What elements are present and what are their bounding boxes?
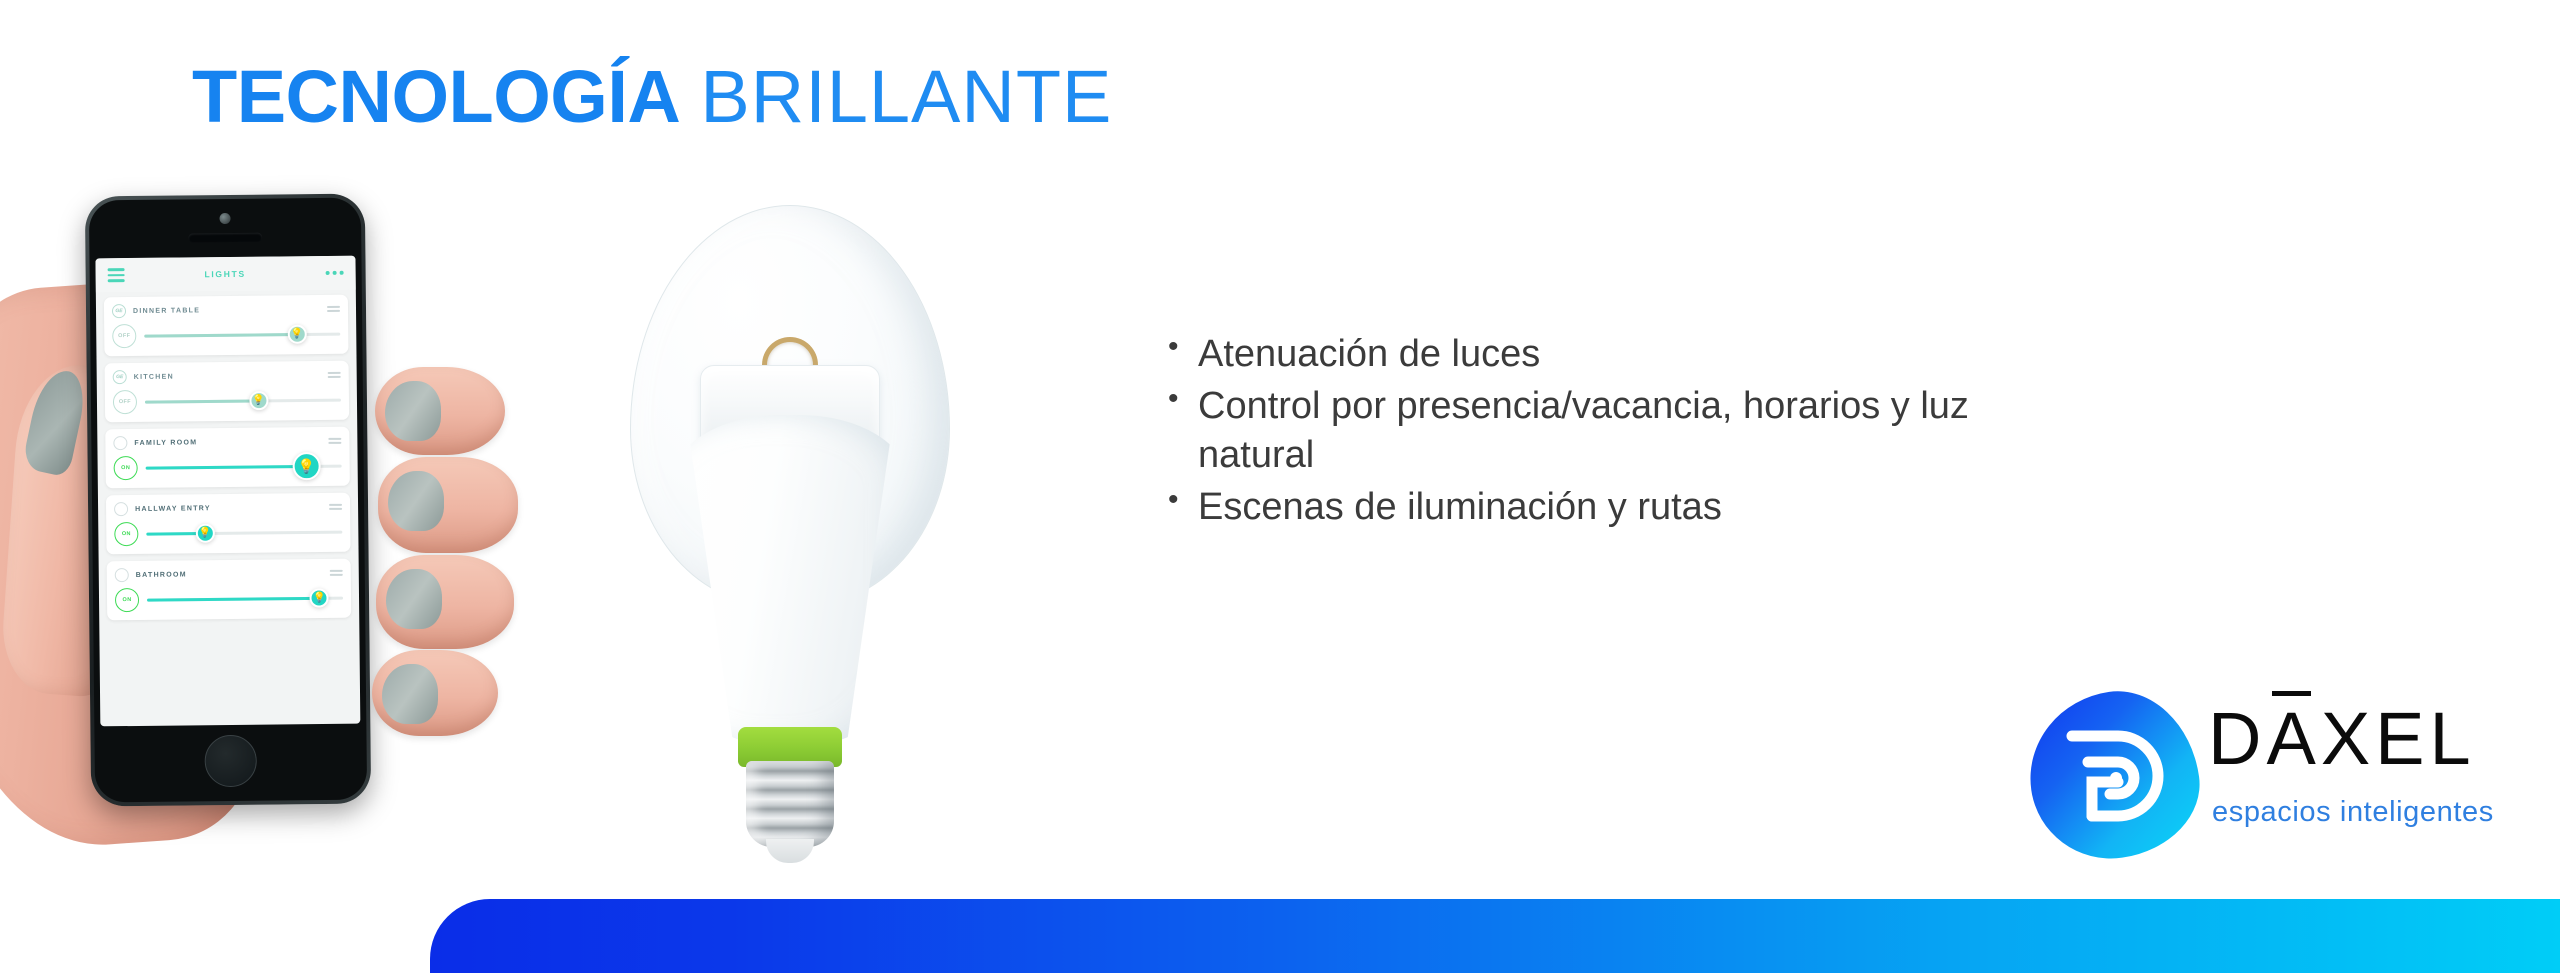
smartphone: LIGHTS GE DINNER TABLE OFF (85, 194, 371, 807)
power-toggle[interactable]: OFF (113, 390, 137, 414)
bottom-gradient-bar (430, 899, 2560, 973)
fingernail (386, 569, 442, 629)
feature-list: Atenuación de luces Control por presenci… (1160, 330, 2060, 535)
ge-brand-icon: GE (113, 370, 127, 384)
list-item[interactable]: BATHROOM ON 💡 (107, 559, 352, 621)
finger (376, 555, 514, 649)
phone-screen: LIGHTS GE DINNER TABLE OFF (95, 256, 360, 727)
bulb-icon: 💡 (291, 329, 304, 339)
finger (378, 457, 518, 553)
light-name: BATHROOM (136, 570, 323, 579)
brand-wordmark: DAXEL (2208, 702, 2476, 776)
title-light-word: BRILLANTE (700, 55, 1112, 138)
dimmer-slider[interactable]: 💡 (147, 587, 343, 611)
bulb-screw-base (746, 761, 834, 847)
daxel-mark-icon (2019, 681, 2208, 869)
bulb-base-tip (766, 839, 814, 863)
power-toggle[interactable]: OFF (112, 324, 136, 348)
slider-knob[interactable]: 💡 (249, 391, 268, 410)
hamburger-icon[interactable] (108, 268, 125, 282)
drag-handle-icon[interactable] (330, 570, 343, 576)
list-item: Control por presencia/vacancia, horarios… (1160, 382, 2060, 479)
bulb-icon: 💡 (252, 396, 265, 406)
list-item[interactable]: GE KITCHEN OFF 💡 (105, 361, 350, 423)
fingernail (382, 664, 438, 724)
drag-handle-icon[interactable] (328, 438, 341, 444)
power-toggle[interactable]: ON (114, 522, 138, 546)
dimmer-slider[interactable]: 💡 (145, 389, 341, 413)
ge-brand-icon (115, 568, 129, 582)
drag-handle-icon[interactable] (327, 306, 340, 312)
hand-holding-phone: LIGHTS GE DINNER TABLE OFF (0, 195, 560, 855)
home-button[interactable] (204, 735, 257, 788)
slider-knob[interactable]: 💡 (310, 588, 329, 607)
app-title: LIGHTS (204, 269, 245, 279)
light-name: KITCHEN (134, 372, 321, 381)
slide-canvas: TECNOLOGÍA BRILLANTE LIGHTS (0, 0, 2560, 973)
list-item: Atenuación de luces (1160, 330, 2060, 378)
finger (375, 367, 505, 455)
list-item[interactable]: HALLWAY ENTRY ON 💡 (106, 493, 351, 555)
app-header: LIGHTS (95, 256, 355, 293)
ge-brand-icon (114, 502, 128, 516)
more-options-icon[interactable] (326, 271, 344, 275)
light-name: HALLWAY ENTRY (135, 504, 322, 513)
dimmer-slider[interactable]: 💡 (144, 323, 340, 347)
fingernail (388, 471, 444, 531)
brand-letters-xel: XEL (2321, 697, 2476, 780)
slider-knob[interactable]: 💡 (292, 452, 320, 480)
slider-knob[interactable]: 💡 (288, 325, 307, 344)
power-toggle[interactable]: ON (114, 456, 138, 480)
brand-tagline: espacios inteligentes (2212, 796, 2494, 829)
dimmer-slider[interactable]: 💡 (146, 521, 342, 545)
bulb-icon: 💡 (199, 528, 212, 538)
bulb-icon: 💡 (313, 593, 326, 603)
finger (372, 650, 498, 736)
slider-knob[interactable]: 💡 (196, 524, 215, 543)
list-item[interactable]: FAMILY ROOM ON 💡 (105, 427, 350, 489)
bulb-icon: 💡 (298, 459, 316, 473)
light-name: DINNER TABLE (133, 306, 320, 315)
brand-letter-a: A (2266, 697, 2320, 780)
list-item[interactable]: GE DINNER TABLE OFF 💡 (104, 295, 349, 357)
ge-brand-icon: GE (112, 304, 126, 318)
dimmer-slider[interactable]: 💡 (146, 455, 342, 479)
brand-letter-d: D (2208, 697, 2266, 780)
led-bulb-product-image (600, 205, 980, 865)
front-camera-icon (219, 213, 230, 224)
drag-handle-icon[interactable] (328, 372, 341, 378)
brand-logo: DAXEL espacios inteligentes (2030, 688, 2530, 868)
light-name: FAMILY ROOM (134, 438, 321, 447)
drag-handle-icon[interactable] (329, 504, 342, 510)
fingernail (385, 381, 441, 441)
power-toggle[interactable]: ON (115, 588, 139, 612)
list-item: Escenas de iluminación y rutas (1160, 483, 2060, 531)
ge-brand-icon (113, 436, 127, 450)
title-bold-word: TECNOLOGÍA (192, 55, 680, 138)
page-title: TECNOLOGÍA BRILLANTE (192, 60, 1112, 134)
lights-list: GE DINNER TABLE OFF 💡 (96, 290, 359, 626)
earpiece-speaker (188, 233, 262, 243)
